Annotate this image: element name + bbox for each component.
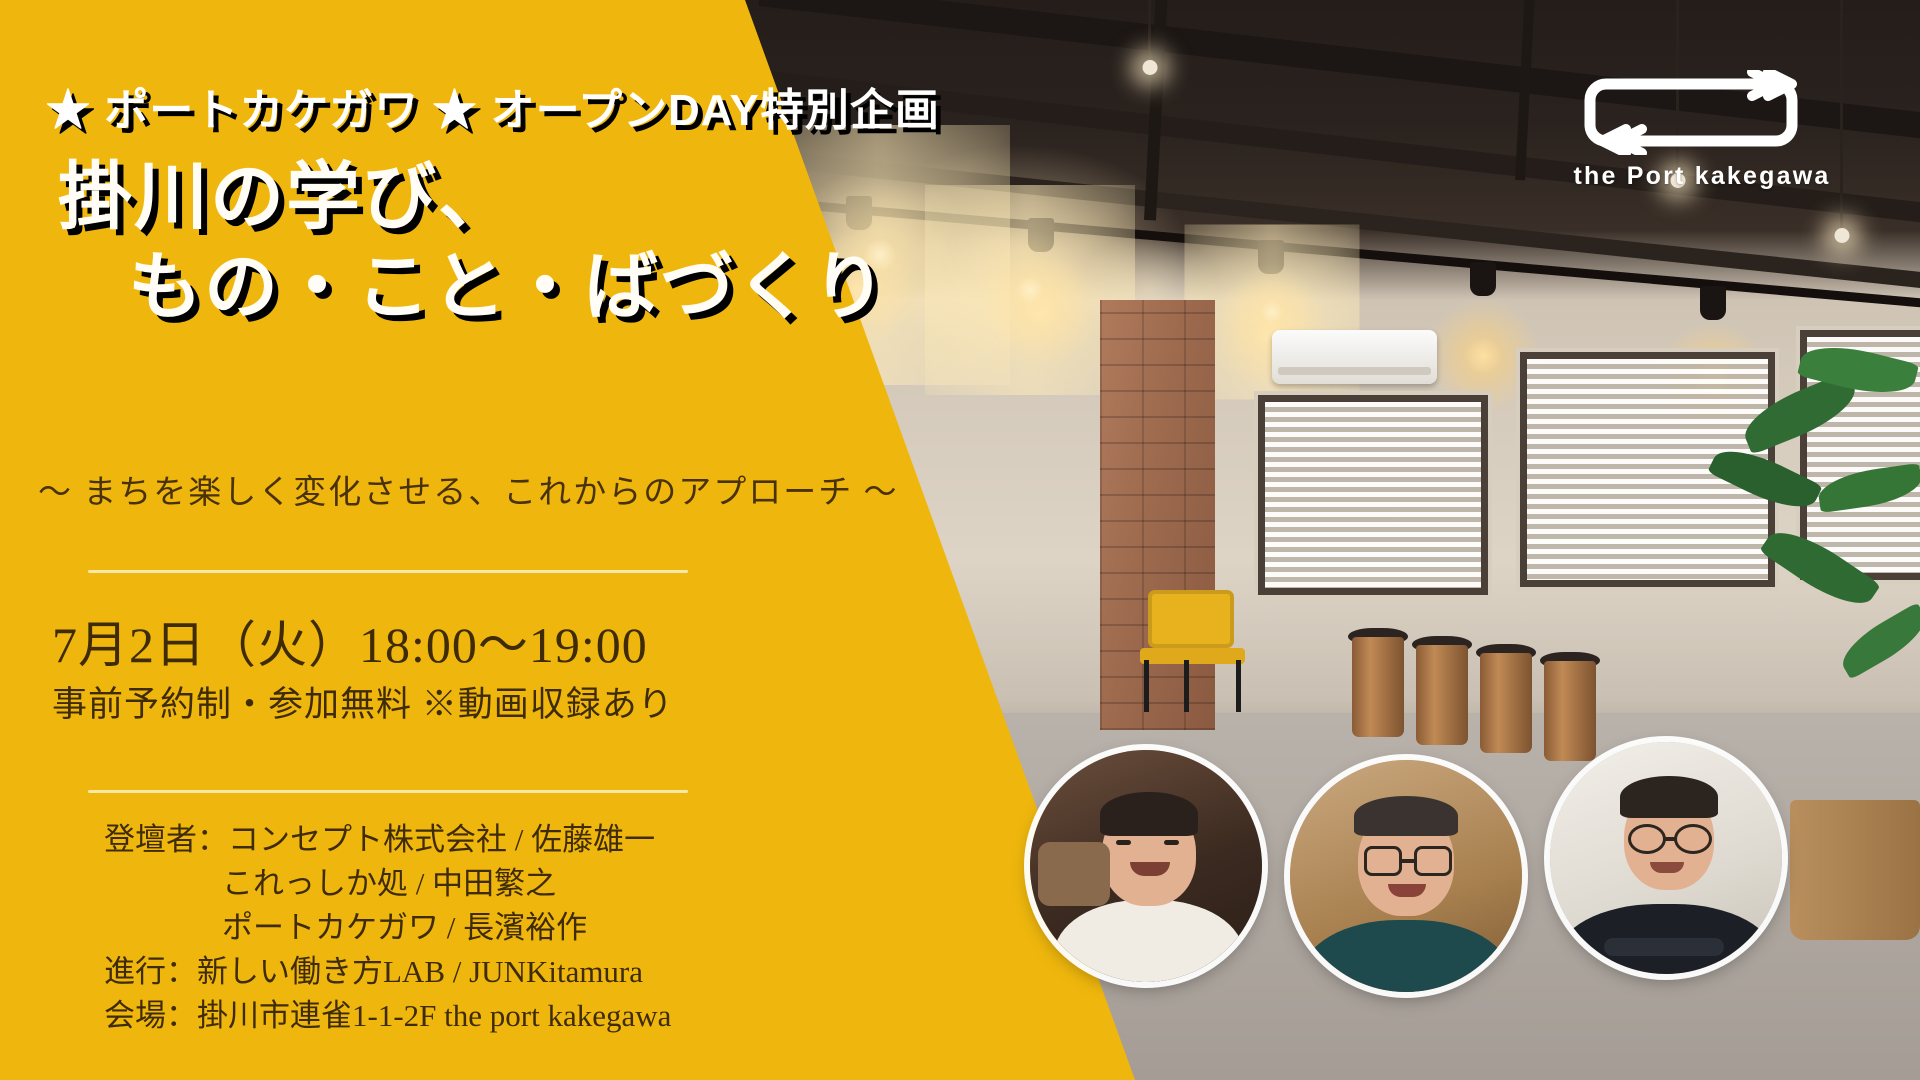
detail-moderator: 進行：新しい働き方LAB / JUNKitamura	[104, 950, 671, 994]
two-way-arrow-loop-icon	[1580, 70, 1812, 155]
track-light	[1700, 286, 1726, 320]
speaker-photo-3	[1550, 742, 1782, 974]
title-line-1: 掛川の学び、	[58, 155, 514, 238]
tagline: 〜 まちを楽しく変化させる、これからのアプローチ 〜	[38, 465, 899, 513]
page-title: 掛川の学び、 もの・こと・ばづくり	[58, 152, 888, 333]
air-conditioner	[1272, 330, 1437, 384]
pendant-light	[1148, 0, 1151, 62]
title-line-2: もの・こと・ばづくり	[58, 242, 888, 332]
window-blinds	[1258, 395, 1488, 595]
eyeglasses-icon	[1628, 824, 1712, 854]
plant-pot	[1790, 800, 1920, 940]
divider-bottom	[88, 790, 688, 793]
detail-speakers-line-1: 登壇者：コンセプト株式会社 / 佐藤雄一	[104, 822, 655, 857]
event-datetime: 7月2日（火）18:00〜19:00	[52, 605, 648, 677]
event-flyer: ★ ポートカケガワ ★ オープンDAY特別企画 掛川の学び、 もの・こと・ばづく…	[0, 0, 1920, 1080]
track-light	[1028, 218, 1054, 252]
kicker-headline: ★ ポートカケガワ ★ オープンDAY特別企画	[46, 74, 940, 138]
detail-venue: 会場：掛川市連雀1-1-2F the port kakegawa	[104, 994, 671, 1038]
the-port-kakegawa-logo: the Port kakegawa	[1580, 70, 1850, 200]
wooden-stool	[1412, 636, 1472, 746]
speaker-photo-1	[1030, 750, 1262, 982]
event-details: 登壇者：コンセプト株式会社 / 佐藤雄一 これっしか処 / 中田繁之 ポートカケ…	[104, 818, 671, 1038]
logo-wordmark: the Port kakegawa	[1572, 162, 1832, 191]
wooden-stool	[1476, 644, 1536, 754]
eyeglasses-icon	[1364, 846, 1452, 876]
yellow-chair	[1140, 590, 1245, 710]
detail-speakers-line-2: これっしか処 / 中田繁之	[104, 862, 671, 906]
detail-speakers-line-3: ポートカケガワ / 長濱裕作	[104, 906, 671, 950]
plant-leaf	[1834, 602, 1920, 679]
wooden-stool	[1348, 628, 1408, 738]
event-note: 事前予約制・参加無料 ※動画収録あり	[52, 676, 674, 727]
divider-top	[88, 570, 688, 573]
speaker-photo-2	[1290, 760, 1522, 992]
track-light	[1470, 262, 1496, 296]
track-light	[1258, 240, 1284, 274]
